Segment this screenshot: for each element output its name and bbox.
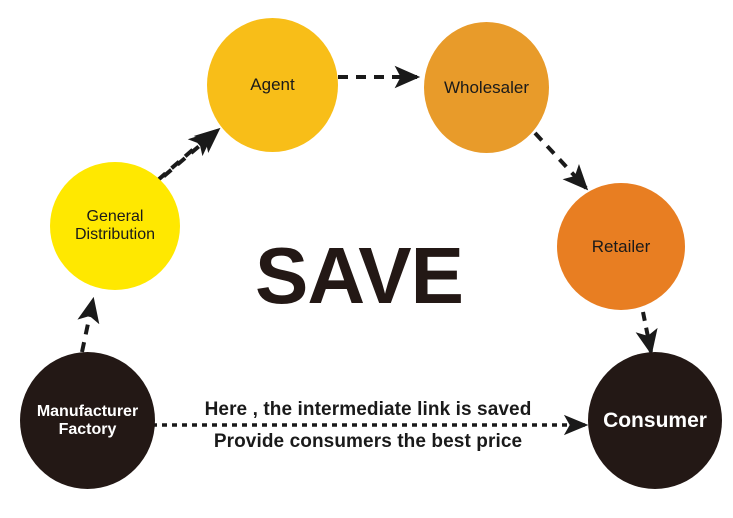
node-retailer[interactable]: Retailer xyxy=(557,183,685,310)
save-headline: SAVE xyxy=(248,236,470,316)
node-consumer[interactable]: Consumer xyxy=(588,352,722,489)
node-agent-label: Agent xyxy=(207,75,338,94)
node-retailer-label: Retailer xyxy=(557,237,685,256)
caption-intermediate-link-saved: Here , the intermediate link is saved xyxy=(168,399,568,421)
caption-best-price: Provide consumers the best price xyxy=(168,431,568,453)
node-agent[interactable]: Agent xyxy=(207,18,338,152)
supply-chain-diagram: General Distribution Agent Wholesaler Re… xyxy=(0,0,733,518)
node-manufacturer[interactable]: Manufacturer Factory xyxy=(20,352,155,489)
node-wholesaler-label: Wholesaler xyxy=(424,78,549,97)
node-consumer-label: Consumer xyxy=(588,409,722,433)
node-general-distribution[interactable]: General Distribution xyxy=(50,162,180,290)
node-general-distribution-label: General Distribution xyxy=(50,208,180,244)
node-wholesaler[interactable]: Wholesaler xyxy=(424,22,549,153)
node-manufacturer-label: Manufacturer Factory xyxy=(20,403,155,439)
